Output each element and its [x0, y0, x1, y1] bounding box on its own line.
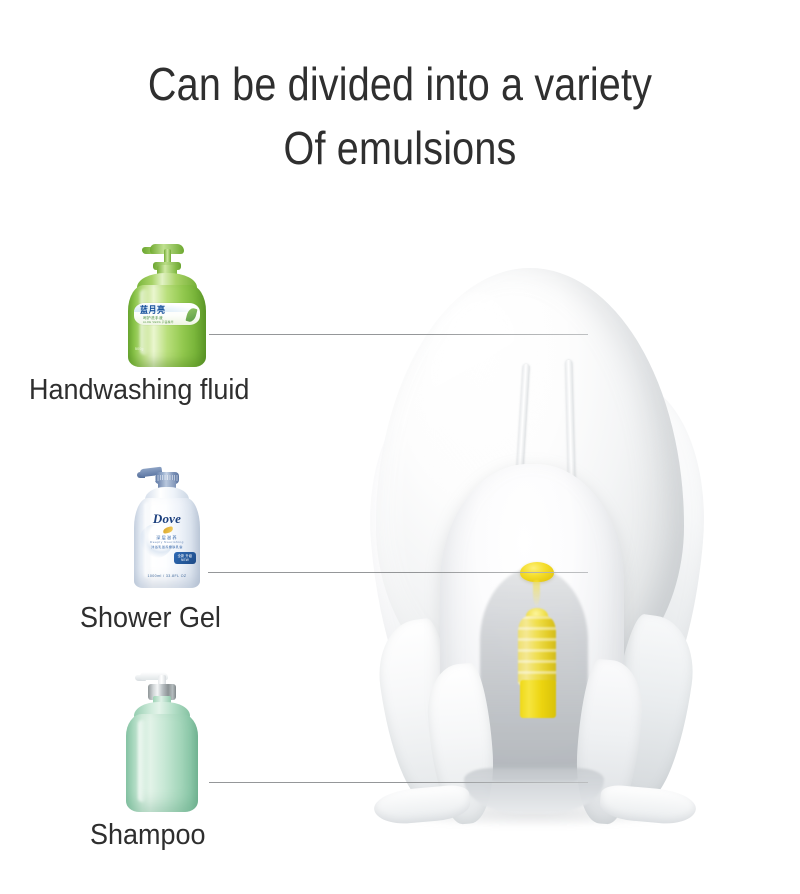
label-subtitle-secondary: ALOE VERA 芦荟精华 — [143, 321, 174, 324]
brand-name: Dove — [134, 512, 200, 526]
bottle-volume: 1000ml / 33.8FL OZ — [134, 574, 200, 578]
label-badge: 全新 升级 NEW — [174, 552, 196, 564]
title-line-1: Can be divided into a variety — [56, 52, 744, 116]
label-subtitle-tertiary: 沐浴乳滋养嫩肤乳霜 — [134, 546, 200, 550]
title-line-2: Of emulsions — [56, 116, 744, 180]
bottle-label: 蓝月亮 呵护洗手液 ALOE VERA 芦荟精华 — [134, 303, 200, 325]
pump-ribbed-body — [518, 616, 556, 686]
product-infographic: Can be divided into a variety Of emulsio… — [0, 0, 800, 894]
product-bottle-shampoo — [126, 672, 198, 812]
liquid-drip — [533, 580, 540, 606]
brand-name: 蓝月亮 — [140, 305, 186, 315]
bottle-body — [126, 714, 198, 812]
product-bottle-handwashing-fluid: 蓝月亮 呵护洗手液 ALOE VERA 芦荟精华 500g — [128, 243, 206, 367]
callout-label-shampoo: Shampoo — [90, 818, 205, 852]
callout-label-handwashing-fluid: Handwashing fluid — [29, 373, 249, 407]
leader-line-shower-gel — [208, 572, 588, 573]
page-title: Can be divided into a variety Of emulsio… — [0, 52, 800, 180]
bottle-volume: 500g — [135, 347, 144, 351]
leader-line-handwashing-fluid — [209, 334, 588, 335]
product-bottle-shower-gel: Dove 深层滋养 Deeply Nourishing 沐浴乳滋养嫩肤乳霜 全新… — [134, 466, 200, 588]
bottle-highlight — [138, 720, 146, 802]
callout-label-shower-gel: Shower Gel — [80, 601, 221, 635]
pump-base-block — [520, 680, 556, 718]
dispenser-product-image — [368, 268, 698, 828]
leader-line-shampoo — [209, 782, 588, 783]
